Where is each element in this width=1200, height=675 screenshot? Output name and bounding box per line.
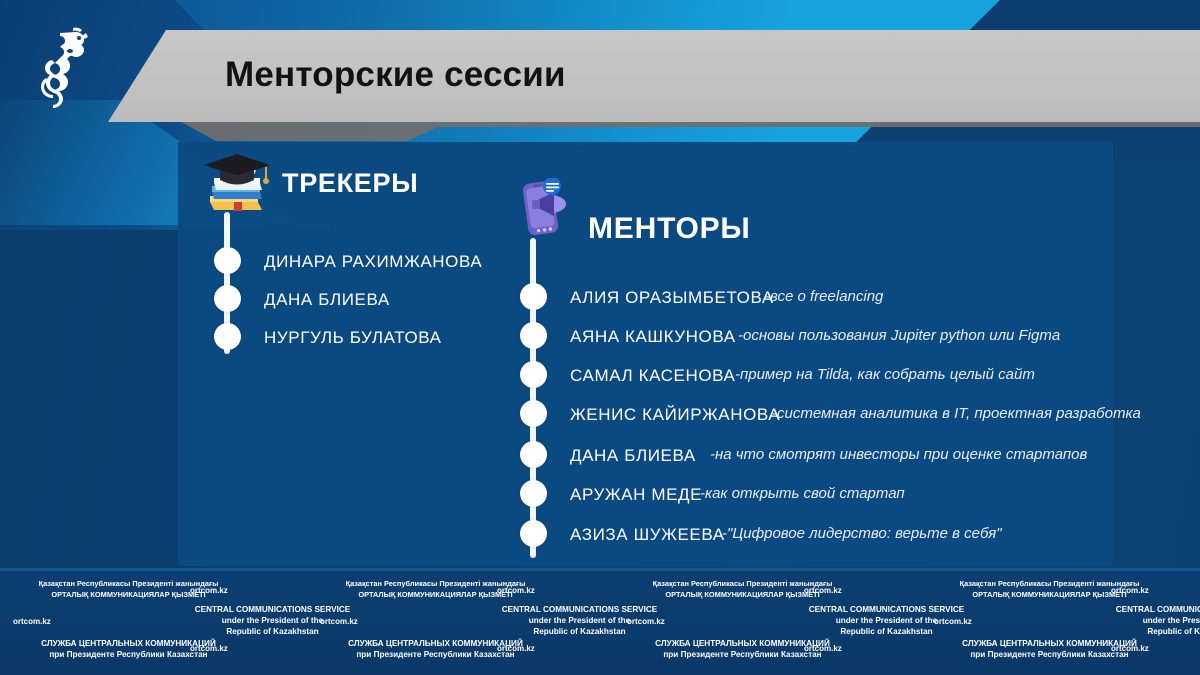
mentor-topic-text: -как открыть свой стартап bbox=[700, 485, 905, 502]
mentor-name: ЖЕНИС КАЙИРЖАНОВА bbox=[570, 405, 780, 425]
mentor-topic-text: -системная аналитика в IT, проектная раз… bbox=[772, 405, 1141, 422]
mentor-name: АЛИЯ ОРАЗЫМБЕТОВА bbox=[570, 288, 774, 308]
footer-english-text: CENTRAL COMMUNICATIONS SERVICEunder the … bbox=[1071, 604, 1200, 637]
tracker-name: ДИНАРА РАХИМЖАНОВА bbox=[264, 252, 482, 272]
mentors-heading: МЕНТОРЫ bbox=[588, 212, 751, 246]
mentors-timeline-dot bbox=[520, 283, 547, 310]
footer-site-url: ortcom.kz bbox=[320, 617, 440, 626]
tracker-list-item[interactable]: ДАНА БЛИЕВА bbox=[264, 290, 390, 310]
footer-site-url: ortcom.kz bbox=[13, 617, 133, 626]
mentor-name: АРУЖАН МЕДЕ bbox=[570, 485, 702, 505]
mentor-topic: -как открыть свой стартап bbox=[700, 485, 905, 502]
footer-site-url: ortcom.kz bbox=[1111, 586, 1200, 595]
tracker-list-item[interactable]: НУРГУЛЬ БУЛАТОВА bbox=[264, 328, 442, 348]
mentor-topic-text: -все о freelancing bbox=[765, 288, 883, 305]
mentors-timeline-dot bbox=[520, 400, 547, 427]
footer-watermark-tile: Қазақстан Республикасы Президенті жанынд… bbox=[282, 568, 589, 675]
trackers-heading: ТРЕКЕРЫ bbox=[282, 168, 418, 199]
footer-watermark-tile: Қазақстан Республикасы Президенті жанынд… bbox=[0, 568, 282, 675]
mentor-list-item[interactable]: АЯНА КАШКУНОВА bbox=[570, 327, 736, 347]
tracker-list-item[interactable]: ДИНАРА РАХИМЖАНОВА bbox=[264, 252, 482, 272]
footer-watermark-strip: Қазақстан Республикасы Президенті жанынд… bbox=[0, 568, 1200, 675]
tracker-name: ДАНА БЛИЕВА bbox=[264, 290, 390, 310]
graduation-cap-books-icon bbox=[200, 152, 274, 220]
mentor-topic: -"Цифровое лидерство: верьте в себя" bbox=[722, 525, 1002, 542]
mentor-name: АЯНА КАШКУНОВА bbox=[570, 327, 736, 347]
mentor-name: ДАНА БЛИЕВА bbox=[570, 446, 696, 466]
mentor-name: САМАЛ КАСЕНОВА bbox=[570, 366, 736, 386]
mentors-timeline-dot bbox=[520, 441, 547, 468]
mentor-list-item[interactable]: АЗИЗА ШУЖЕЕВА bbox=[570, 525, 725, 545]
mentors-timeline-dot bbox=[520, 480, 547, 507]
mentor-list-item[interactable]: САМАЛ КАСЕНОВА bbox=[570, 366, 736, 386]
footer-site-url: ortcom.kz bbox=[934, 617, 1054, 626]
trackers-timeline-dot bbox=[214, 323, 241, 350]
mentors-timeline-dot bbox=[520, 361, 547, 388]
mentor-topic-text: -"Цифровое лидерство: верьте в себя" bbox=[722, 525, 1002, 542]
mentor-topic: -основы пользования Jupiter python или F… bbox=[738, 327, 1060, 344]
mentor-list-item[interactable]: АЛИЯ ОРАЗЫМБЕТОВА bbox=[570, 288, 774, 308]
mentor-topic-text: -пример на Tilda, как собрать целый сайт bbox=[735, 366, 1035, 383]
page-title: Менторские сессии bbox=[225, 55, 1025, 95]
mentor-topic: -все о freelancing bbox=[765, 288, 883, 305]
mentor-topic: -системная аналитика в IT, проектная раз… bbox=[772, 405, 1141, 422]
mentor-list-item[interactable]: ЖЕНИС КАЙИРЖАНОВА bbox=[570, 405, 780, 425]
mentor-topic: -пример на Tilda, как собрать целый сайт bbox=[735, 366, 1035, 383]
slide-root: Менторские сессии bbox=[0, 0, 1200, 675]
mentor-name: АЗИЗА ШУЖЕЕВА bbox=[570, 525, 725, 545]
mentor-topic-text: -на что смотрят инвесторы при оценке ста… bbox=[710, 446, 1087, 463]
footer-watermark-tile: Қазақстан Республикасы Президенті жанынд… bbox=[896, 568, 1200, 675]
trackers-timeline-dot bbox=[214, 247, 241, 274]
trackers-timeline-dot bbox=[214, 285, 241, 312]
mentor-list-item[interactable]: АРУЖАН МЕДЕ bbox=[570, 485, 702, 505]
footer-site-url: ortcom.kz bbox=[1111, 644, 1200, 653]
mentors-timeline-dot bbox=[520, 520, 547, 547]
footer-watermark-tile: Қазақстан Республикасы Президенті жанынд… bbox=[589, 568, 896, 675]
mentor-topic-text: -основы пользования Jupiter python или F… bbox=[738, 327, 1060, 344]
mentors-timeline-dot bbox=[520, 322, 547, 349]
phone-megaphone-icon bbox=[512, 178, 574, 246]
mentor-topic: -на что смотрят инвесторы при оценке ста… bbox=[710, 446, 1087, 463]
mentor-list-item[interactable]: ДАНА БЛИЕВА bbox=[570, 446, 696, 466]
footer-site-url: ortcom.kz bbox=[627, 617, 747, 626]
tracker-name: НУРГУЛЬ БУЛАТОВА bbox=[264, 328, 442, 348]
snow-leopard-emblem-icon bbox=[32, 26, 98, 108]
